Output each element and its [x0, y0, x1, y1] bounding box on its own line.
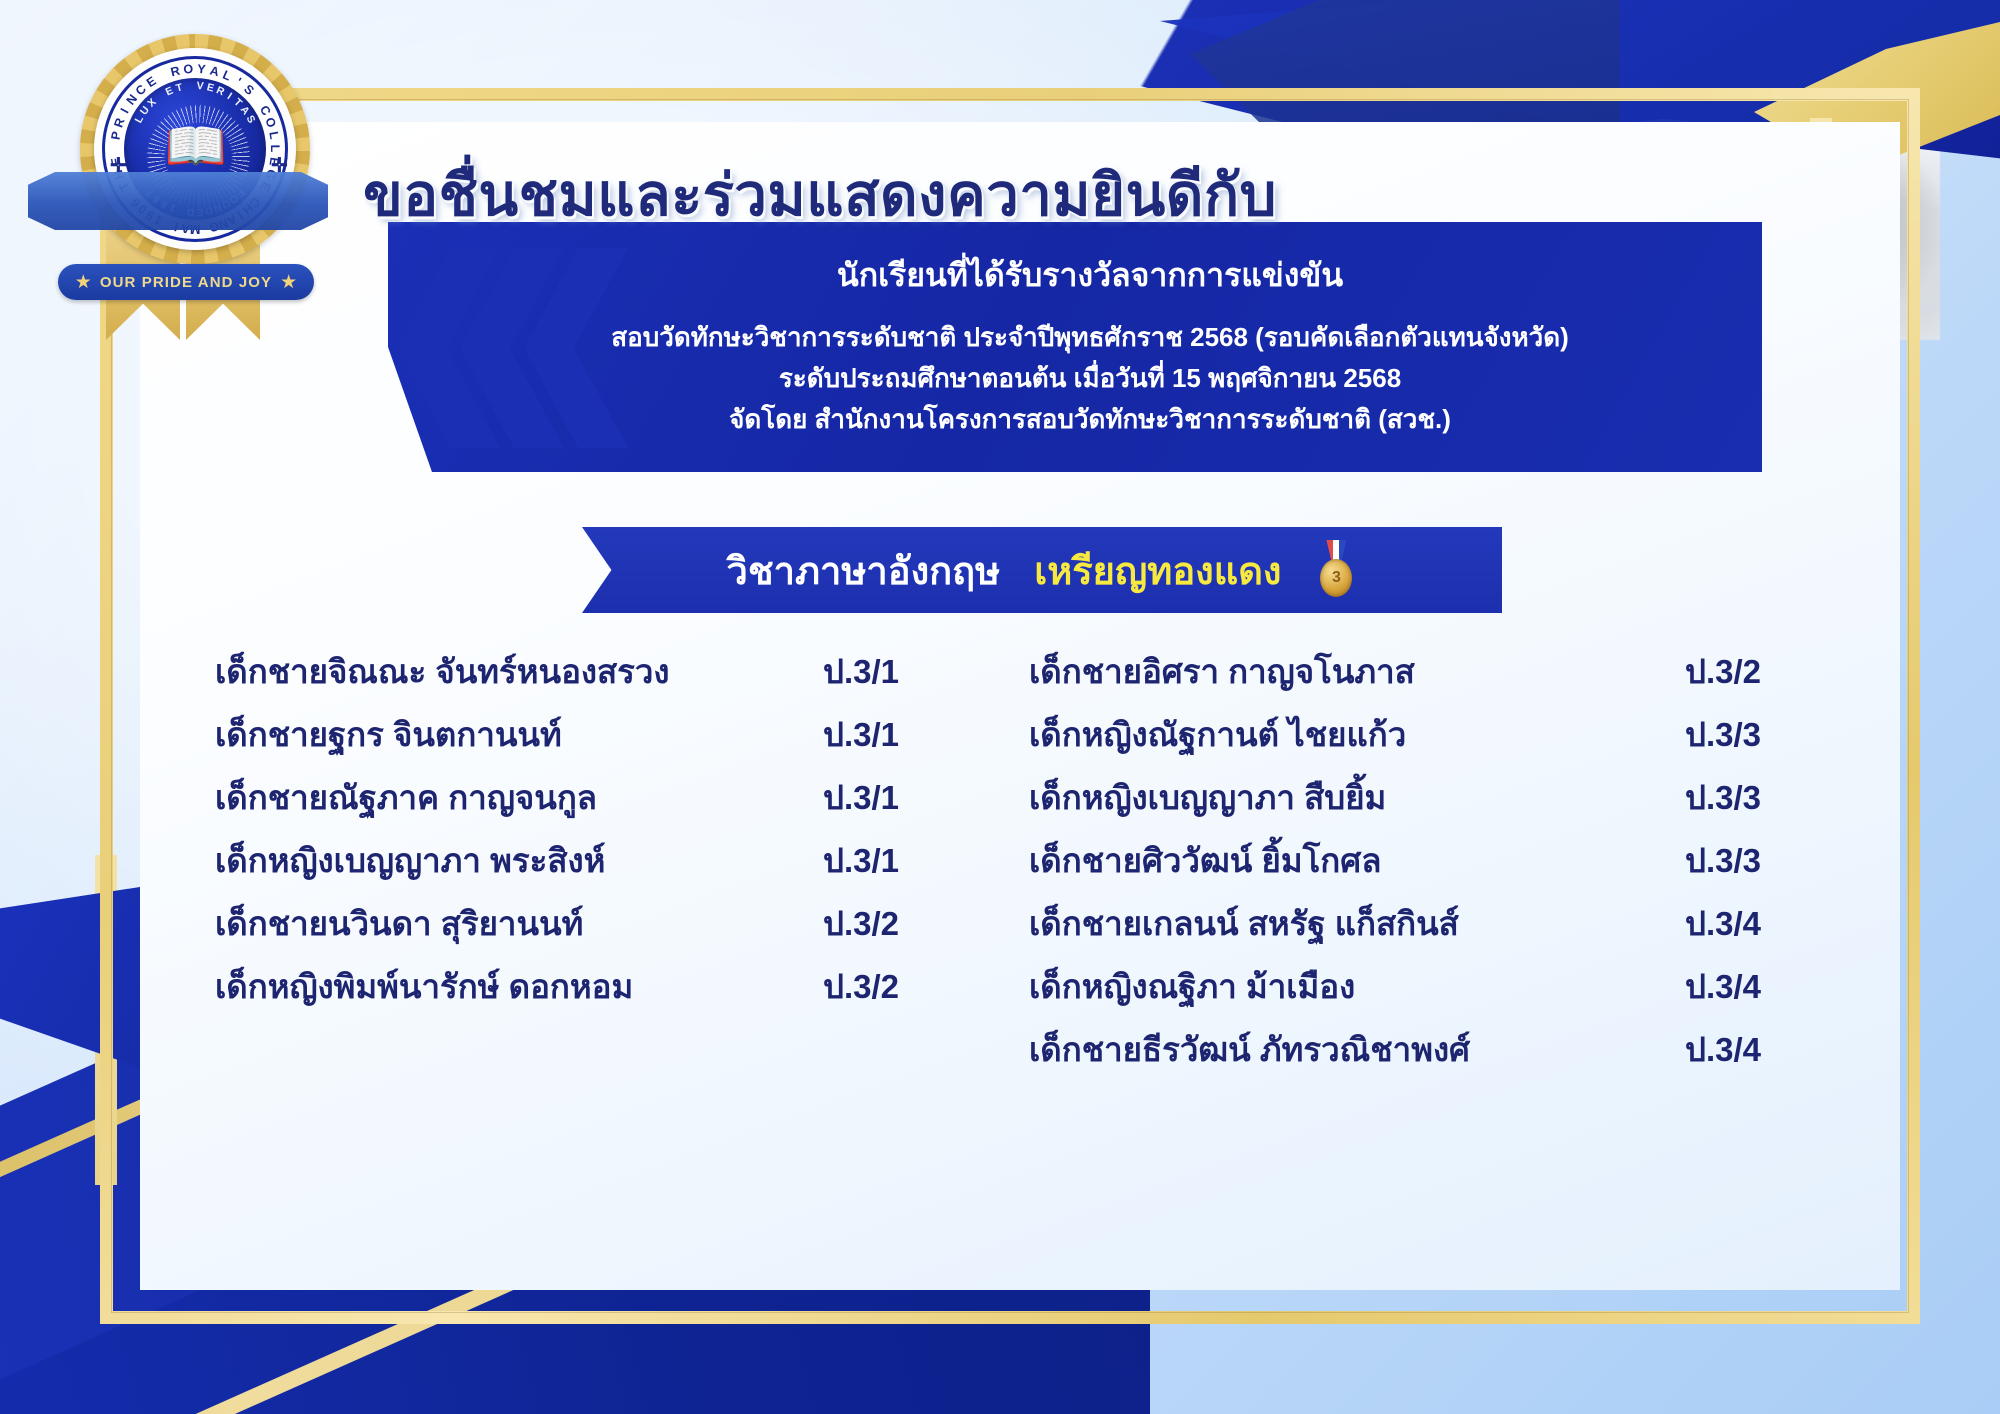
awardee-class: ป.3/4 [1685, 897, 1803, 950]
awardee-row: -- [215, 1023, 1001, 1086]
awardee-class: ป.3/4 [1685, 960, 1803, 1013]
star-icon-left: ★ [75, 273, 92, 292]
awardee-name: เด็กชายฐกร จินตกานนท์ [215, 708, 562, 761]
awardee-column-left: เด็กชายจิณณะ จันทร์หนองสรวงป.3/1เด็กชายฐ… [215, 645, 1001, 1086]
awardee-row: เด็กชายณัฐภาค กาญจนกูลป.3/1 [215, 771, 1001, 834]
awardee-name: เด็กหญิงเบญญาภา พระสิงห์ [215, 834, 605, 887]
awardee-class: ป.3/3 [1685, 771, 1803, 824]
info-line-2: สอบวัดทักษะวิชาการระดับชาติ ประจำปีพุทธศ… [460, 317, 1720, 358]
awardee-row: เด็กชายเกลนน์ สหรัฐ แก็สกินส์ป.3/4 [1029, 897, 1815, 960]
pride-and-joy-badge: ★ OUR PRIDE AND JOY ★ [58, 264, 314, 300]
awardee-class: ป.3/2 [823, 960, 941, 1013]
pride-and-joy-label: OUR PRIDE AND JOY [100, 274, 272, 291]
awardee-name: เด็กหญิงเบญญาภา สืบยิ้ม [1029, 771, 1386, 824]
poster-canvas: 📖 THE PRINCE ROYAL'S COLLEGE CHIANG MAI … [0, 0, 2000, 1414]
info-text-block: นักเรียนที่ได้รับรางวัลจากการแข่งขัน สอบ… [460, 250, 1720, 440]
awardee-row: เด็กหญิงเบญญาภา พระสิงห์ป.3/1 [215, 834, 1001, 897]
awardee-row: เด็กชายธีรวัฒน์ ภัทรวณิชาพงศ์ป.3/4 [1029, 1023, 1815, 1086]
awardee-class: ป.3/2 [823, 897, 941, 950]
awardee-row: เด็กหญิงเบญญาภา สืบยิ้มป.3/3 [1029, 771, 1815, 834]
awardee-row: เด็กหญิงพิมพ์นารักษ์ ดอกหอมป.3/2 [215, 960, 1001, 1023]
awardee-row: เด็กชายอิศรา กาญจโนภาสป.3/2 [1029, 645, 1815, 708]
subject-banner-content: วิชาภาษาอังกฤษ เหรียญทองแดง [582, 527, 1502, 613]
subject-label: วิชาภาษาอังกฤษ [727, 540, 1001, 601]
awardee-row: เด็กชายนวินดา สุริยานนท์ป.3/2 [215, 897, 1001, 960]
awardee-name: เด็กชายธีรวัฒน์ ภัทรวณิชาพงศ์ [1029, 1023, 1470, 1076]
awardee-lists: เด็กชายจิณณะ จันทร์หนองสรวงป.3/1เด็กชายฐ… [215, 645, 1815, 1086]
subject-banner: วิชาภาษาอังกฤษ เหรียญทองแดง [582, 527, 1502, 613]
awardee-name: เด็กชายจิณณะ จันทร์หนองสรวง [215, 645, 670, 698]
awardee-class: ป.3/4 [1685, 1023, 1803, 1076]
awardee-name: เด็กชายณัฐภาค กาญจนกูล [215, 771, 597, 824]
awardee-class: ป.3/3 [1685, 834, 1803, 887]
awardee-class: ป.3/1 [823, 834, 941, 887]
awardee-name: เด็กหญิงพิมพ์นารักษ์ ดอกหอม [215, 960, 633, 1013]
awardee-row: เด็กหญิงณฐิภา ม้าเมืองป.3/4 [1029, 960, 1815, 1023]
awardee-name: เด็กชายอิศรา กาญจโนภาส [1029, 645, 1415, 698]
awardee-row: เด็กชายจิณณะ จันทร์หนองสรวงป.3/1 [215, 645, 1001, 708]
awardee-column-right: เด็กชายอิศรา กาญจโนภาสป.3/2เด็กหญิงณัฐกา… [1029, 645, 1815, 1086]
awardee-name: เด็กหญิงณัฐกานต์ ไชยแก้ว [1029, 708, 1406, 761]
awardee-row: เด็กหญิงณัฐกานต์ ไชยแก้วป.3/3 [1029, 708, 1815, 771]
awardee-name: เด็กหญิงณฐิภา ม้าเมือง [1029, 960, 1355, 1013]
awardee-class: ป.3/1 [823, 645, 941, 698]
bronze-medal-icon [1315, 540, 1357, 600]
info-line-3: ระดับประถมศึกษาตอนต้น เมื่อวันที่ 15 พฤศ… [460, 358, 1720, 399]
awardee-class: ป.3/1 [823, 708, 941, 761]
medal-label: เหรียญทองแดง [1034, 540, 1281, 601]
awardee-name: เด็กชายเกลนน์ สหรัฐ แก็สกินส์ [1029, 897, 1459, 950]
star-icon-right: ★ [280, 273, 297, 292]
awardee-name: เด็กชายนวินดา สุริยานนท์ [215, 897, 583, 950]
info-line-4: จัดโดย สำนักงานโครงการสอบวัดทักษะวิชาการ… [460, 399, 1720, 440]
awardee-class: ป.3/2 [1685, 645, 1803, 698]
awardee-class: ป.3/1 [823, 771, 941, 824]
awardee-class: ป.3/3 [1685, 708, 1803, 761]
awardee-name: เด็กชายศิววัฒน์ ยิ้มโกศล [1029, 834, 1381, 887]
awardee-row: เด็กชายศิววัฒน์ ยิ้มโกศลป.3/3 [1029, 834, 1815, 897]
page-title: ขอชื่นชมและร่วมแสดงความยินดีกับ [0, 148, 1640, 241]
info-line-1: นักเรียนที่ได้รับรางวัลจากการแข่งขัน [460, 250, 1720, 301]
awardee-row: เด็กชายฐกร จินตกานนท์ป.3/1 [215, 708, 1001, 771]
